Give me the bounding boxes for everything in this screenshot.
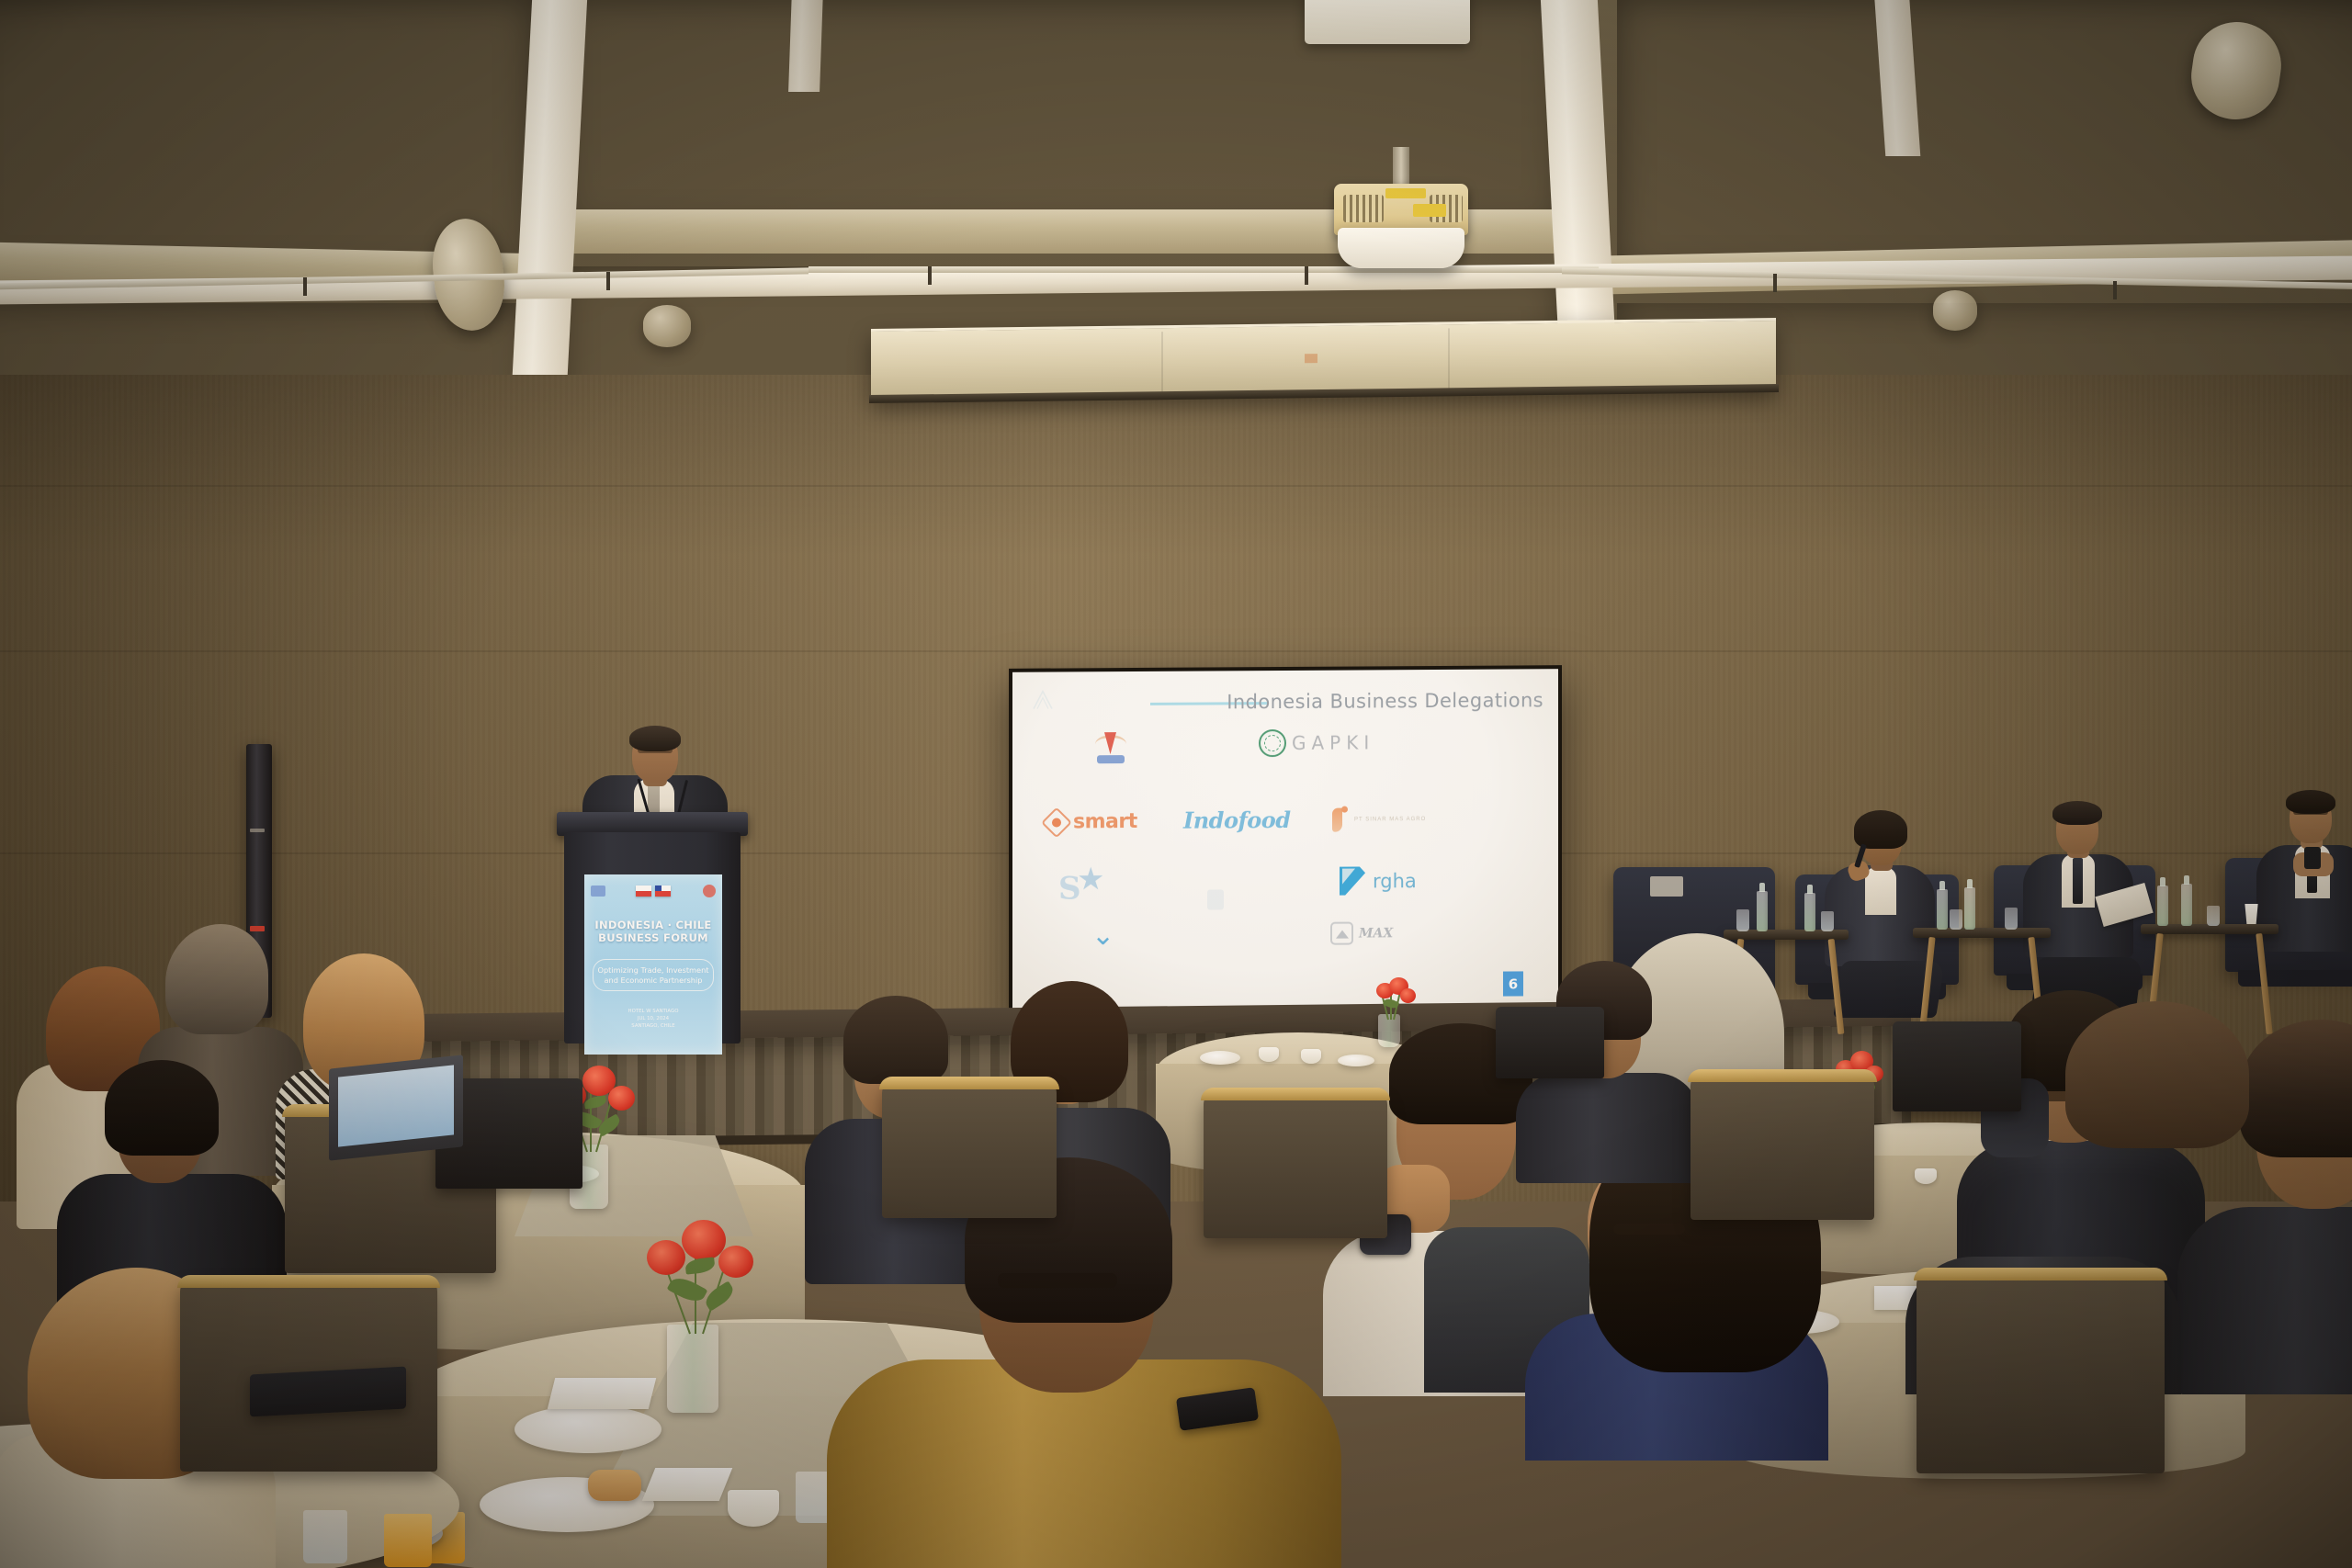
smart-logo: smart <box>1046 810 1137 834</box>
rgha-mark-icon <box>1340 866 1367 896</box>
eyeglasses-icon <box>998 1273 1117 1288</box>
podium-footer: HOTEL W SANTIAGO JUL 10, 2024 SANTIAGO, … <box>584 1009 722 1030</box>
organizer-logo-right <box>703 885 716 897</box>
coffee-cup <box>1301 1049 1321 1064</box>
indonesia-flag-icon <box>636 886 651 897</box>
sinarmas-star-logo: S ★ <box>1057 861 1099 903</box>
eyeglasses-icon <box>1613 1224 1685 1235</box>
podium-event-title: INDONESIA · CHILE BUSINESS FORUM <box>584 919 722 944</box>
podium-tagline-box: Optimizing Trade, Investment and Economi… <box>593 959 714 991</box>
podium-footer-line1: HOTEL W SANTIAGO <box>584 1009 722 1016</box>
gapki-emblem-icon <box>1259 729 1286 757</box>
banquet-chair <box>1917 1271 2165 1473</box>
rgha-label: rgha <box>1373 870 1417 892</box>
plate <box>1200 1051 1240 1065</box>
indofood-label: Indofood <box>1183 807 1291 834</box>
max-mark-icon <box>1330 922 1353 945</box>
conference-hall-photo: Indonesia Business Delegations GAPKI <box>0 0 2352 1568</box>
podium-title-line1: INDONESIA · CHILE <box>584 919 722 931</box>
coffee-cup <box>728 1490 779 1527</box>
mobile-phone <box>2304 847 2321 869</box>
podium-tagline-line2: and Economic Partnership <box>597 976 709 986</box>
ceiling-speaker-icon <box>1933 290 1977 331</box>
water-glass <box>303 1510 347 1563</box>
smart-label: smart <box>1073 810 1137 833</box>
sinar-mas-label: PT SINAR MAS AGRO <box>1354 817 1426 822</box>
podium-tagline-line1: Optimizing Trade, Investment <box>597 965 709 976</box>
orange-juice-glass <box>384 1514 432 1567</box>
indofood-logo: Indofood <box>1183 807 1291 834</box>
indonesia-emblem-logo <box>1093 732 1128 760</box>
ceiling-speaker-icon <box>643 305 691 347</box>
bread-roll <box>588 1470 641 1501</box>
banquet-chair <box>882 1080 1057 1218</box>
slide-title: Indonesia Business Delegations <box>1227 689 1543 713</box>
notebook <box>250 1367 406 1417</box>
ceiling-projector <box>1334 184 1468 272</box>
max-label: MAX <box>1359 926 1393 941</box>
chile-flag-icon <box>655 886 671 897</box>
banquet-chair <box>1690 1073 1874 1220</box>
logo-grid: GAPKI smart Indofood PT SINAR MAS AGRO <box>1012 720 1558 1009</box>
banquet-chair <box>1204 1091 1387 1238</box>
gapki-logo: GAPKI <box>1259 728 1374 757</box>
flag-pair <box>636 886 671 897</box>
sinar-mas-mark-icon <box>1332 807 1349 834</box>
rgha-logo: rgha <box>1340 866 1417 897</box>
eyeglasses-icon <box>2293 808 2328 815</box>
faint-logo-placeholder <box>1207 889 1224 909</box>
open-laptop <box>329 1062 463 1154</box>
folded-napkin <box>642 1468 733 1501</box>
sinar-mas-logo: PT SINAR MAS AGRO <box>1332 806 1426 834</box>
ceiling-access-panel <box>1305 0 1470 44</box>
podium-title-line2: BUSINESS FORUM <box>584 931 722 944</box>
slide-watermark-icon <box>1031 689 1055 713</box>
podium-body: INDONESIA · CHILE BUSINESS FORUM Optimiz… <box>564 832 741 1043</box>
coffee-cup <box>1259 1047 1279 1062</box>
presentation-slide: Indonesia Business Delegations GAPKI <box>1012 669 1558 1023</box>
podium-footer-line2: JUL 10, 2024 <box>584 1016 722 1023</box>
table-centerpiece <box>616 1203 781 1415</box>
smart-mark-icon <box>1046 811 1068 833</box>
podium-branding-panel: INDONESIA · CHILE BUSINESS FORUM Optimiz… <box>584 874 722 1055</box>
max-logo: MAX <box>1330 921 1393 944</box>
laptop-bag <box>1496 1007 1604 1078</box>
organizer-logo-left <box>591 886 605 897</box>
podium: INDONESIA · CHILE BUSINESS FORUM Optimiz… <box>564 812 741 1043</box>
podium-footer-line3: SANTIAGO, CHILE <box>584 1023 722 1031</box>
laptop-bag <box>1893 1021 2021 1111</box>
gapki-label: GAPKI <box>1292 731 1374 754</box>
chevron-down-icon: ⌄ <box>1091 919 1114 952</box>
